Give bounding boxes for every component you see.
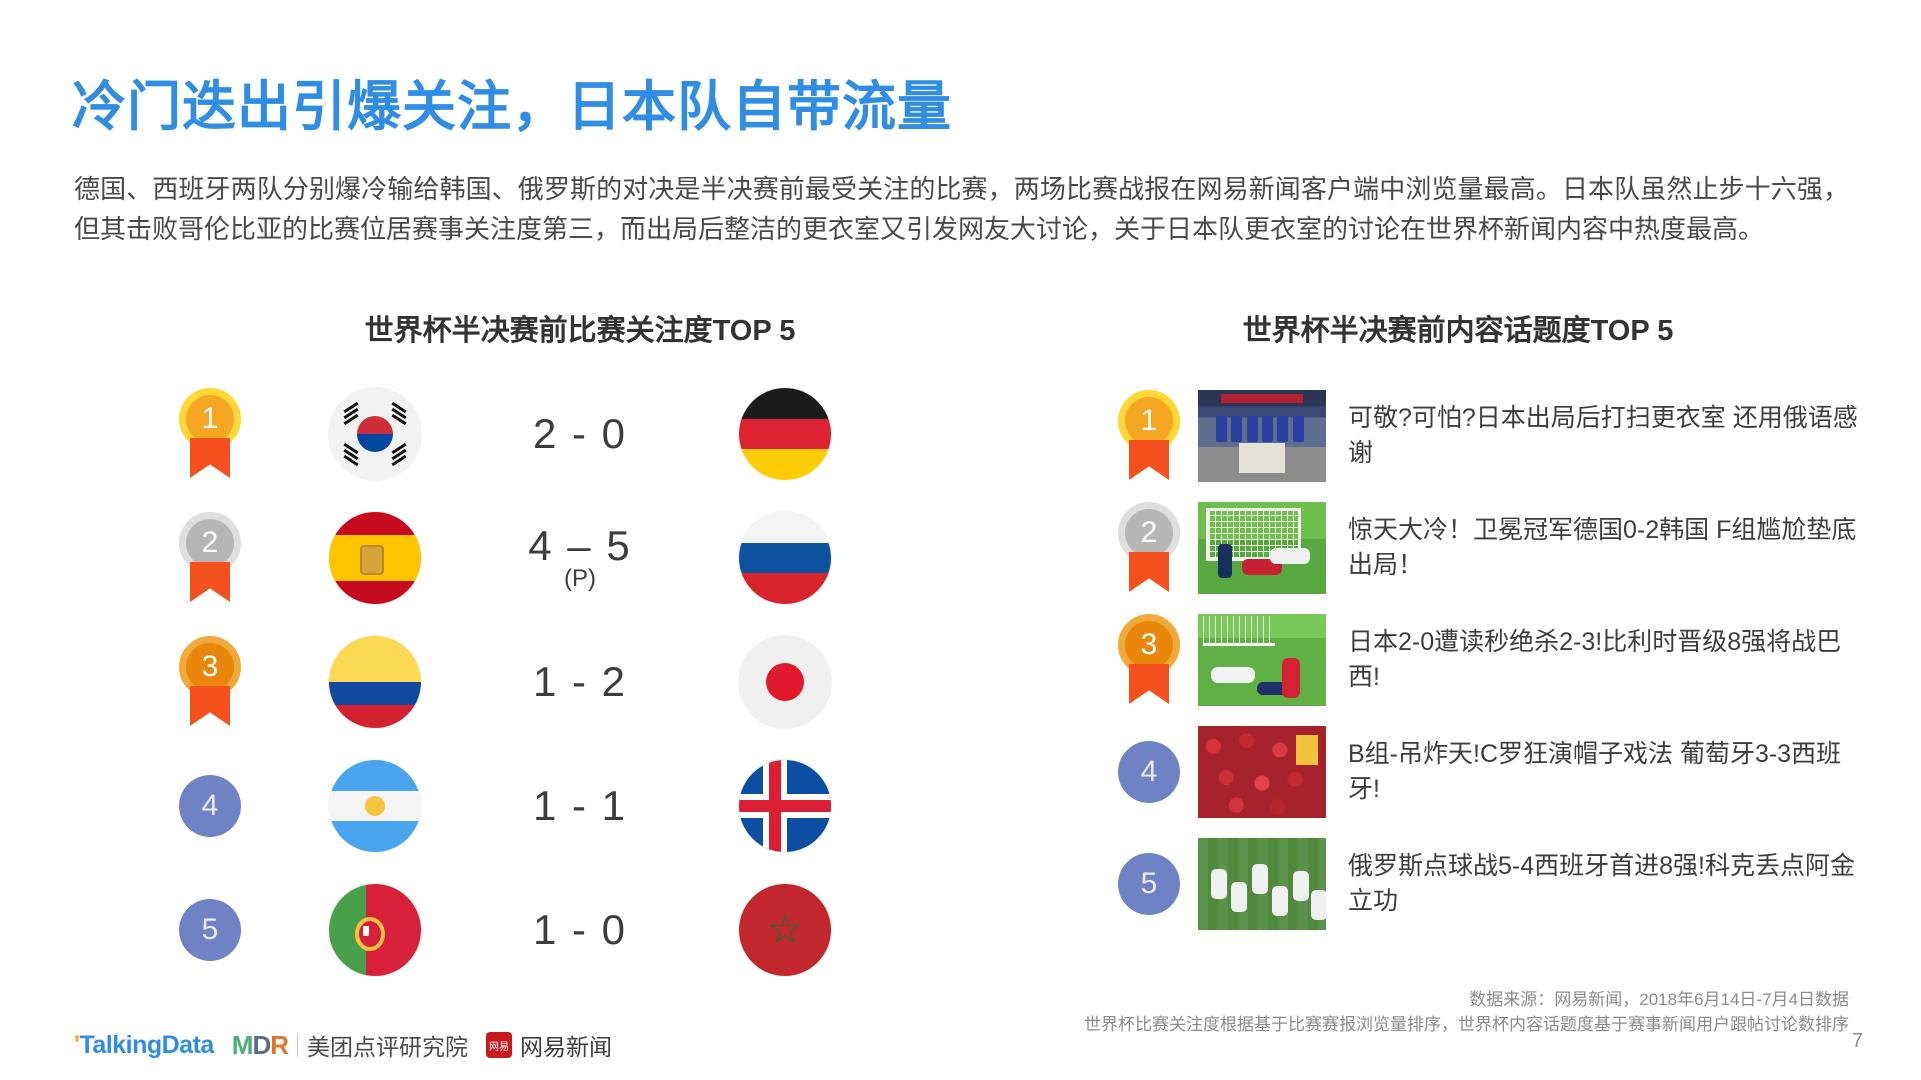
netease-mark-icon: 网易 — [486, 1032, 512, 1058]
table-row: 1 — [150, 372, 890, 496]
home-flag-cell — [270, 884, 480, 976]
right-panel-heading: 世界杯半决赛前内容话题度TOP 5 — [1148, 307, 1768, 349]
mdr-logo-text: 美团点评研究院 — [307, 1028, 468, 1062]
topic-headline: 俄罗斯点球战5-4西班牙首进8强!科克丢点阿金立功 — [1326, 849, 1860, 920]
slide-root: 冷门迭出引爆关注，日本队自带流量 德国、西班牙两队分别爆冷输给韩国、俄罗斯的对决… — [0, 0, 1921, 1080]
thumbnail-red-crowd — [1198, 726, 1326, 818]
medal-bronze-icon: 3 — [1118, 614, 1180, 706]
page-number: 7 — [1852, 1030, 1863, 1053]
flag-germany-icon — [739, 388, 831, 480]
medal-bronze-icon: 3 — [179, 636, 241, 728]
flag-colombia-icon — [329, 636, 421, 728]
intro-paragraph: 德国、西班牙两队分别爆冷输给韩国、俄罗斯的对决是半决赛前最受关注的比赛，两场比赛… — [74, 170, 1849, 249]
away-flag-cell — [680, 636, 890, 728]
flag-korea-icon — [329, 388, 421, 480]
score-text: 1 - 1 — [533, 782, 627, 829]
flag-japan-icon — [739, 636, 831, 728]
score-cell: 4 – 5 (P) — [480, 524, 680, 591]
ribbon-icon — [1129, 440, 1169, 480]
medal-silver-icon: 2 — [1118, 502, 1180, 594]
rank-cell: 4 — [150, 775, 270, 837]
away-flag-cell — [680, 760, 890, 852]
ribbon-icon — [190, 562, 230, 602]
away-flag-cell — [680, 512, 890, 604]
home-flag-cell — [270, 636, 480, 728]
rank-cell: 2 — [1100, 502, 1198, 594]
ribbon-icon — [190, 686, 230, 726]
flag-morocco-icon: ☆ — [739, 884, 831, 976]
page-title: 冷门迭出引爆关注，日本队自带流量 — [72, 62, 952, 141]
score-cell: 1 - 0 — [480, 908, 680, 952]
score-text: 1 - 0 — [533, 906, 627, 953]
table-row: 2 4 – 5 (P) — [150, 496, 890, 620]
mdr-logo: MDR 美团点评研究院 — [232, 1028, 468, 1062]
rank-badge-4: 4 — [1118, 741, 1180, 803]
rank-badge-5: 5 — [1118, 853, 1180, 915]
match-ranking-list: 1 — [150, 372, 890, 992]
thumbnail-celebration — [1198, 838, 1326, 930]
score-text: 1 - 2 — [533, 658, 627, 705]
topic-headline: B组-吊炸天!C罗狂演帽子戏法 葡萄牙3-3西班牙! — [1326, 737, 1860, 808]
away-flag-cell — [680, 388, 890, 480]
away-flag-cell: ☆ — [680, 884, 890, 976]
score-cell: 2 - 0 — [480, 412, 680, 456]
ribbon-icon — [1129, 664, 1169, 704]
score-cell: 1 - 1 — [480, 784, 680, 828]
list-item: 1 可敬?可怕?日本出局后打扫更衣室 还用俄语感谢 — [1100, 380, 1860, 492]
list-item: 2 惊天大冷！卫冕冠军德国0-2韩国 F组尴尬垫底出局！ — [1100, 492, 1860, 604]
score-text: 4 – 5 — [528, 522, 631, 569]
list-item: 3 日本2-0遭读秒绝杀2-3!比利时晋级8强将战巴西! — [1100, 604, 1860, 716]
home-flag-cell — [270, 760, 480, 852]
rank-cell: 1 — [150, 388, 270, 480]
thumbnail-players-on-pitch — [1198, 614, 1326, 706]
ribbon-icon — [190, 438, 230, 478]
source-line-1: 数据来源：网易新闻，2018年6月14日-7月4日数据 — [1084, 988, 1849, 1013]
mdr-letter-d: D — [252, 1030, 270, 1060]
ribbon-icon — [1129, 552, 1169, 592]
topic-headline: 日本2-0遭读秒绝杀2-3!比利时晋级8强将战巴西! — [1326, 625, 1860, 696]
rank-cell: 5 — [1100, 853, 1198, 915]
score-cell: 1 - 2 — [480, 660, 680, 704]
thumbnail-goal-save — [1198, 502, 1326, 594]
score-note: (P) — [480, 566, 680, 591]
rank-cell: 4 — [1100, 741, 1198, 803]
rank-badge-4: 4 — [179, 775, 241, 837]
flag-spain-icon — [329, 512, 421, 604]
flag-argentina-icon — [329, 760, 421, 852]
medal-gold-icon: 1 — [179, 388, 241, 480]
source-note: 数据来源：网易新闻，2018年6月14日-7月4日数据 世界杯比赛关注度根据基于… — [1084, 988, 1849, 1037]
topic-headline: 惊天大冷！卫冕冠军德国0-2韩国 F组尴尬垫底出局！ — [1326, 513, 1860, 584]
home-flag-cell — [270, 388, 480, 480]
rank-cell: 5 — [150, 899, 270, 961]
rank-cell: 1 — [1100, 390, 1198, 482]
talkingdata-logo: 'TalkingData — [74, 1031, 214, 1060]
rank-cell: 3 — [150, 636, 270, 728]
list-item: 5 俄罗斯点球战5-4西班牙首进8强!科克丢点阿金立功 — [1100, 828, 1860, 940]
flag-portugal-icon — [329, 884, 421, 976]
netease-logo: 网易 网易新闻 — [486, 1028, 612, 1062]
medal-silver-icon: 2 — [179, 512, 241, 604]
table-row: 3 1 - 2 — [150, 620, 890, 744]
mdr-letter-r: R — [270, 1030, 288, 1060]
home-flag-cell — [270, 512, 480, 604]
thumbnail-locker-room — [1198, 390, 1326, 482]
mdr-letter-m: M — [232, 1030, 253, 1060]
rank-cell: 2 — [150, 512, 270, 604]
list-item: 4 B组-吊炸天!C罗狂演帽子戏法 葡萄牙3-3西班牙! — [1100, 716, 1860, 828]
score-text: 2 - 0 — [533, 410, 627, 457]
flag-russia-icon — [739, 512, 831, 604]
logo-divider — [297, 1033, 298, 1057]
rank-badge-5: 5 — [179, 899, 241, 961]
topic-ranking-list: 1 可敬?可怕?日本出局后打扫更衣室 还用俄语感谢 2 — [1100, 380, 1860, 940]
topic-headline: 可敬?可怕?日本出局后打扫更衣室 还用俄语感谢 — [1326, 401, 1860, 472]
rank-cell: 3 — [1100, 614, 1198, 706]
talkingdata-logo-text: TalkingData — [79, 1031, 213, 1059]
source-line-2: 世界杯比赛关注度根据基于比赛赛报浏览量排序，世界杯内容话题度基于赛事新闻用户跟帖… — [1084, 1013, 1849, 1038]
flag-iceland-icon — [739, 760, 831, 852]
mdr-mark: MDR — [232, 1030, 288, 1061]
medal-gold-icon: 1 — [1118, 390, 1180, 482]
table-row: 4 1 - 1 — [150, 744, 890, 868]
netease-logo-text: 网易新闻 — [520, 1028, 612, 1062]
table-row: 5 1 - 0 ☆ — [150, 868, 890, 992]
left-panel-heading: 世界杯半决赛前比赛关注度TOP 5 — [280, 307, 880, 349]
footer-logos: 'TalkingData MDR 美团点评研究院 网易 网易新闻 — [74, 1028, 612, 1062]
